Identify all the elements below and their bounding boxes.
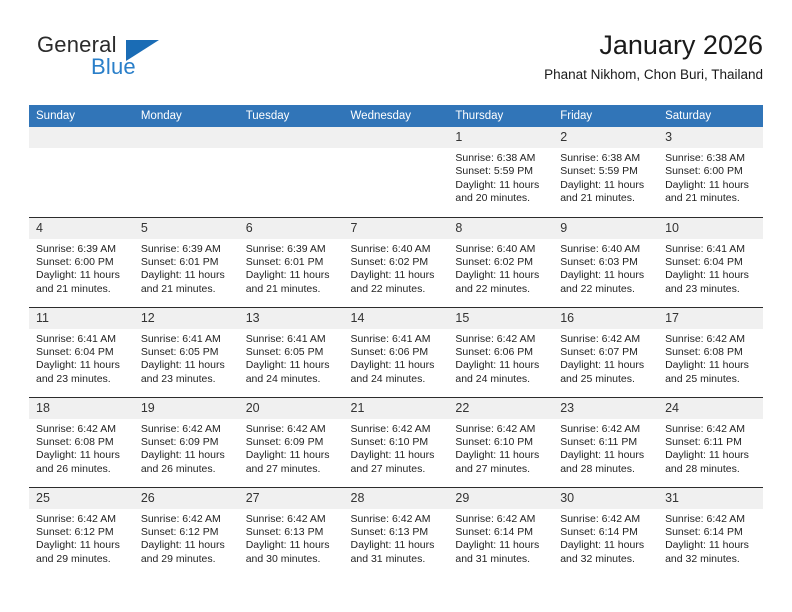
calendar-day-cell[interactable]: 18Sunrise: 6:42 AMSunset: 6:08 PMDayligh…	[29, 397, 134, 487]
day-detail-line: and 29 minutes.	[36, 553, 128, 566]
day-details: Sunrise: 6:41 AMSunset: 6:04 PMDaylight:…	[658, 239, 763, 297]
calendar-week-row: 1Sunrise: 6:38 AMSunset: 5:59 PMDaylight…	[29, 127, 763, 217]
calendar-day-cell[interactable]: 12Sunrise: 6:41 AMSunset: 6:05 PMDayligh…	[134, 307, 239, 397]
day-number: 21	[344, 398, 449, 419]
day-detail-line: Sunset: 6:11 PM	[665, 436, 757, 449]
calendar-day-cell[interactable]: 3Sunrise: 6:38 AMSunset: 6:00 PMDaylight…	[658, 127, 763, 217]
day-detail-line: Sunset: 6:02 PM	[455, 256, 547, 269]
day-detail-line: Sunset: 6:08 PM	[665, 346, 757, 359]
day-detail-line: Sunset: 5:59 PM	[560, 165, 652, 178]
day-detail-line: Daylight: 11 hours	[36, 359, 128, 372]
day-detail-line: Sunrise: 6:41 AM	[351, 333, 443, 346]
day-detail-line: Sunset: 6:14 PM	[560, 526, 652, 539]
calendar-day-cell[interactable]: 7Sunrise: 6:40 AMSunset: 6:02 PMDaylight…	[344, 217, 449, 307]
day-detail-line: Sunrise: 6:41 AM	[246, 333, 338, 346]
day-details: Sunrise: 6:42 AMSunset: 6:08 PMDaylight:…	[29, 419, 134, 477]
day-details: Sunrise: 6:42 AMSunset: 6:09 PMDaylight:…	[134, 419, 239, 477]
day-detail-line: and 28 minutes.	[560, 463, 652, 476]
day-detail-line: Sunrise: 6:41 AM	[36, 333, 128, 346]
day-detail-line: Sunset: 6:04 PM	[36, 346, 128, 359]
day-detail-line: Sunset: 6:12 PM	[141, 526, 233, 539]
day-number: 29	[448, 488, 553, 509]
day-number: 6	[239, 218, 344, 239]
day-details: Sunrise: 6:42 AMSunset: 6:14 PMDaylight:…	[553, 509, 658, 567]
calendar-day-cell[interactable]: 17Sunrise: 6:42 AMSunset: 6:08 PMDayligh…	[658, 307, 763, 397]
calendar-day-cell[interactable]: 16Sunrise: 6:42 AMSunset: 6:07 PMDayligh…	[553, 307, 658, 397]
day-number: 27	[239, 488, 344, 509]
day-details: Sunrise: 6:39 AMSunset: 6:00 PMDaylight:…	[29, 239, 134, 297]
calendar-day-cell[interactable]: 21Sunrise: 6:42 AMSunset: 6:10 PMDayligh…	[344, 397, 449, 487]
calendar-body: 1Sunrise: 6:38 AMSunset: 5:59 PMDaylight…	[29, 127, 763, 577]
day-details: Sunrise: 6:42 AMSunset: 6:14 PMDaylight:…	[658, 509, 763, 567]
day-details: Sunrise: 6:41 AMSunset: 6:05 PMDaylight:…	[239, 329, 344, 387]
day-detail-line: Sunrise: 6:42 AM	[455, 333, 547, 346]
day-detail-line: Daylight: 11 hours	[141, 449, 233, 462]
day-detail-line: Sunrise: 6:42 AM	[36, 423, 128, 436]
day-detail-line: Sunrise: 6:42 AM	[665, 513, 757, 526]
day-detail-line: Daylight: 11 hours	[246, 269, 338, 282]
day-detail-line: and 27 minutes.	[455, 463, 547, 476]
brand-name-blue: Blue	[91, 54, 136, 80]
calendar-day-cell[interactable]: 20Sunrise: 6:42 AMSunset: 6:09 PMDayligh…	[239, 397, 344, 487]
day-detail-line: and 32 minutes.	[560, 553, 652, 566]
calendar-page: General Blue January 2026 Phanat Nikhom,…	[0, 0, 792, 612]
day-detail-line: Sunrise: 6:42 AM	[665, 423, 757, 436]
day-detail-line: and 32 minutes.	[665, 553, 757, 566]
day-detail-line: Sunset: 6:10 PM	[351, 436, 443, 449]
day-details: Sunrise: 6:42 AMSunset: 6:13 PMDaylight:…	[239, 509, 344, 567]
day-details	[29, 148, 134, 152]
day-detail-line: and 23 minutes.	[36, 373, 128, 386]
day-detail-line: Sunset: 6:13 PM	[351, 526, 443, 539]
day-number: 14	[344, 308, 449, 329]
day-detail-line: Sunrise: 6:40 AM	[455, 243, 547, 256]
day-detail-line: Sunrise: 6:41 AM	[141, 333, 233, 346]
day-detail-line: and 23 minutes.	[665, 283, 757, 296]
day-detail-line: Daylight: 11 hours	[560, 449, 652, 462]
day-detail-line: Daylight: 11 hours	[351, 449, 443, 462]
weekday-header-tuesday: Tuesday	[239, 105, 344, 127]
day-detail-line: Sunset: 6:00 PM	[665, 165, 757, 178]
day-details: Sunrise: 6:42 AMSunset: 6:11 PMDaylight:…	[553, 419, 658, 477]
page-header: General Blue January 2026 Phanat Nikhom,…	[29, 28, 763, 96]
weekday-header-sunday: Sunday	[29, 105, 134, 127]
calendar-week-row: 25Sunrise: 6:42 AMSunset: 6:12 PMDayligh…	[29, 487, 763, 577]
day-detail-line: Daylight: 11 hours	[560, 269, 652, 282]
day-detail-line: Daylight: 11 hours	[36, 539, 128, 552]
day-detail-line: Sunset: 6:01 PM	[246, 256, 338, 269]
day-detail-line: and 24 minutes.	[351, 373, 443, 386]
day-detail-line: and 26 minutes.	[141, 463, 233, 476]
day-number: 20	[239, 398, 344, 419]
calendar-day-cell-empty	[29, 127, 134, 217]
day-details: Sunrise: 6:40 AMSunset: 6:02 PMDaylight:…	[448, 239, 553, 297]
title-block: January 2026 Phanat Nikhom, Chon Buri, T…	[544, 28, 763, 85]
day-detail-line: and 24 minutes.	[246, 373, 338, 386]
day-details: Sunrise: 6:39 AMSunset: 6:01 PMDaylight:…	[134, 239, 239, 297]
calendar-day-cell[interactable]: 19Sunrise: 6:42 AMSunset: 6:09 PMDayligh…	[134, 397, 239, 487]
day-number: 15	[448, 308, 553, 329]
day-number: 18	[29, 398, 134, 419]
day-detail-line: Sunset: 5:59 PM	[455, 165, 547, 178]
day-details: Sunrise: 6:42 AMSunset: 6:12 PMDaylight:…	[29, 509, 134, 567]
day-number: 2	[553, 127, 658, 148]
day-number: 31	[658, 488, 763, 509]
day-detail-line: Daylight: 11 hours	[560, 539, 652, 552]
day-detail-line: and 28 minutes.	[665, 463, 757, 476]
day-detail-line: Sunrise: 6:42 AM	[141, 423, 233, 436]
day-number: 1	[448, 127, 553, 148]
day-detail-line: and 21 minutes.	[665, 192, 757, 205]
day-details	[239, 148, 344, 152]
day-detail-line: Sunrise: 6:42 AM	[560, 333, 652, 346]
day-details: Sunrise: 6:42 AMSunset: 6:10 PMDaylight:…	[344, 419, 449, 477]
day-detail-line: Daylight: 11 hours	[141, 359, 233, 372]
day-detail-line: Sunrise: 6:42 AM	[665, 333, 757, 346]
calendar-week-row: 11Sunrise: 6:41 AMSunset: 6:04 PMDayligh…	[29, 307, 763, 397]
day-detail-line: Daylight: 11 hours	[560, 179, 652, 192]
day-detail-line: and 23 minutes.	[141, 373, 233, 386]
weekday-header-thursday: Thursday	[448, 105, 553, 127]
calendar-day-cell[interactable]: 25Sunrise: 6:42 AMSunset: 6:12 PMDayligh…	[29, 487, 134, 577]
day-detail-line: and 27 minutes.	[246, 463, 338, 476]
day-details: Sunrise: 6:39 AMSunset: 6:01 PMDaylight:…	[239, 239, 344, 297]
day-detail-line: Sunset: 6:09 PM	[246, 436, 338, 449]
day-detail-line: Sunset: 6:12 PM	[36, 526, 128, 539]
day-number: 13	[239, 308, 344, 329]
day-details: Sunrise: 6:42 AMSunset: 6:10 PMDaylight:…	[448, 419, 553, 477]
day-detail-line: Sunrise: 6:38 AM	[560, 152, 652, 165]
day-detail-line: Sunrise: 6:42 AM	[246, 423, 338, 436]
day-detail-line: Sunrise: 6:42 AM	[455, 513, 547, 526]
day-detail-line: Sunrise: 6:42 AM	[246, 513, 338, 526]
day-details: Sunrise: 6:41 AMSunset: 6:06 PMDaylight:…	[344, 329, 449, 387]
day-detail-line: Daylight: 11 hours	[665, 449, 757, 462]
weekday-header-monday: Monday	[134, 105, 239, 127]
day-details: Sunrise: 6:42 AMSunset: 6:14 PMDaylight:…	[448, 509, 553, 567]
calendar-day-cell[interactable]: 6Sunrise: 6:39 AMSunset: 6:01 PMDaylight…	[239, 217, 344, 307]
day-detail-line: Sunrise: 6:40 AM	[560, 243, 652, 256]
day-number: 3	[658, 127, 763, 148]
day-detail-line: and 21 minutes.	[246, 283, 338, 296]
day-detail-line: and 22 minutes.	[351, 283, 443, 296]
day-number: 17	[658, 308, 763, 329]
calendar-day-cell[interactable]: 1Sunrise: 6:38 AMSunset: 5:59 PMDaylight…	[448, 127, 553, 217]
day-number: 9	[553, 218, 658, 239]
day-detail-line: Sunrise: 6:38 AM	[455, 152, 547, 165]
day-number: 11	[29, 308, 134, 329]
day-details: Sunrise: 6:38 AMSunset: 5:59 PMDaylight:…	[553, 148, 658, 206]
day-detail-line: Sunset: 6:06 PM	[455, 346, 547, 359]
day-number: 8	[448, 218, 553, 239]
day-detail-line: Daylight: 11 hours	[246, 539, 338, 552]
day-number: 5	[134, 218, 239, 239]
day-number: 12	[134, 308, 239, 329]
day-detail-line: Sunrise: 6:38 AM	[665, 152, 757, 165]
day-number	[134, 127, 239, 148]
calendar-day-cell-empty	[134, 127, 239, 217]
day-detail-line: Sunset: 6:10 PM	[455, 436, 547, 449]
calendar-day-cell[interactable]: 2Sunrise: 6:38 AMSunset: 5:59 PMDaylight…	[553, 127, 658, 217]
day-detail-line: Sunrise: 6:42 AM	[560, 423, 652, 436]
day-details: Sunrise: 6:40 AMSunset: 6:03 PMDaylight:…	[553, 239, 658, 297]
day-detail-line: and 30 minutes.	[246, 553, 338, 566]
day-detail-line: and 26 minutes.	[36, 463, 128, 476]
day-details: Sunrise: 6:40 AMSunset: 6:02 PMDaylight:…	[344, 239, 449, 297]
day-detail-line: Daylight: 11 hours	[36, 449, 128, 462]
day-number	[239, 127, 344, 148]
weekday-header-wednesday: Wednesday	[344, 105, 449, 127]
day-details: Sunrise: 6:41 AMSunset: 6:04 PMDaylight:…	[29, 329, 134, 387]
day-detail-line: Sunset: 6:02 PM	[351, 256, 443, 269]
calendar-day-cell[interactable]: 30Sunrise: 6:42 AMSunset: 6:14 PMDayligh…	[553, 487, 658, 577]
day-detail-line: Daylight: 11 hours	[351, 269, 443, 282]
calendar-day-cell-empty	[344, 127, 449, 217]
day-details: Sunrise: 6:41 AMSunset: 6:05 PMDaylight:…	[134, 329, 239, 387]
day-details: Sunrise: 6:38 AMSunset: 5:59 PMDaylight:…	[448, 148, 553, 206]
day-number: 26	[134, 488, 239, 509]
day-detail-line: Sunrise: 6:42 AM	[455, 423, 547, 436]
day-detail-line: Sunrise: 6:42 AM	[141, 513, 233, 526]
day-detail-line: Daylight: 11 hours	[455, 269, 547, 282]
calendar-week-row: 18Sunrise: 6:42 AMSunset: 6:08 PMDayligh…	[29, 397, 763, 487]
day-detail-line: Daylight: 11 hours	[455, 539, 547, 552]
day-detail-line: and 22 minutes.	[560, 283, 652, 296]
day-detail-line: and 31 minutes.	[351, 553, 443, 566]
day-detail-line: Sunset: 6:07 PM	[560, 346, 652, 359]
calendar-day-cell[interactable]: 23Sunrise: 6:42 AMSunset: 6:11 PMDayligh…	[553, 397, 658, 487]
day-detail-line: Daylight: 11 hours	[455, 359, 547, 372]
day-detail-line: Sunset: 6:06 PM	[351, 346, 443, 359]
day-detail-line: Daylight: 11 hours	[665, 539, 757, 552]
day-detail-line: Sunset: 6:14 PM	[455, 526, 547, 539]
day-number: 22	[448, 398, 553, 419]
day-detail-line: Sunrise: 6:41 AM	[665, 243, 757, 256]
calendar-day-cell[interactable]: 27Sunrise: 6:42 AMSunset: 6:13 PMDayligh…	[239, 487, 344, 577]
day-details: Sunrise: 6:42 AMSunset: 6:08 PMDaylight:…	[658, 329, 763, 387]
day-number: 19	[134, 398, 239, 419]
day-detail-line: Sunset: 6:05 PM	[141, 346, 233, 359]
brand-logo[interactable]: General Blue	[29, 28, 249, 84]
day-detail-line: Sunset: 6:01 PM	[141, 256, 233, 269]
day-detail-line: Daylight: 11 hours	[246, 449, 338, 462]
day-detail-line: Sunset: 6:14 PM	[665, 526, 757, 539]
day-number: 10	[658, 218, 763, 239]
day-number: 25	[29, 488, 134, 509]
day-detail-line: Sunrise: 6:39 AM	[36, 243, 128, 256]
day-detail-line: and 25 minutes.	[560, 373, 652, 386]
day-detail-line: Sunset: 6:13 PM	[246, 526, 338, 539]
day-detail-line: Daylight: 11 hours	[455, 449, 547, 462]
day-detail-line: Daylight: 11 hours	[665, 269, 757, 282]
day-detail-line: and 22 minutes.	[455, 283, 547, 296]
day-detail-line: Sunrise: 6:42 AM	[351, 513, 443, 526]
weekday-header-row: Sunday Monday Tuesday Wednesday Thursday…	[29, 105, 763, 127]
day-details: Sunrise: 6:42 AMSunset: 6:13 PMDaylight:…	[344, 509, 449, 567]
calendar-day-cell-empty	[239, 127, 344, 217]
day-detail-line: Daylight: 11 hours	[665, 359, 757, 372]
day-detail-line: and 31 minutes.	[455, 553, 547, 566]
day-detail-line: Daylight: 11 hours	[351, 359, 443, 372]
calendar-day-cell[interactable]: 26Sunrise: 6:42 AMSunset: 6:12 PMDayligh…	[134, 487, 239, 577]
day-detail-line: Sunset: 6:08 PM	[36, 436, 128, 449]
day-detail-line: Sunrise: 6:39 AM	[246, 243, 338, 256]
day-detail-line: Daylight: 11 hours	[36, 269, 128, 282]
calendar-day-cell[interactable]: 4Sunrise: 6:39 AMSunset: 6:00 PMDaylight…	[29, 217, 134, 307]
day-detail-line: and 21 minutes.	[141, 283, 233, 296]
day-detail-line: Daylight: 11 hours	[351, 539, 443, 552]
day-detail-line: and 25 minutes.	[665, 373, 757, 386]
day-number: 4	[29, 218, 134, 239]
day-detail-line: Daylight: 11 hours	[246, 359, 338, 372]
day-detail-line: Sunrise: 6:42 AM	[351, 423, 443, 436]
day-number: 30	[553, 488, 658, 509]
calendar-day-cell[interactable]: 9Sunrise: 6:40 AMSunset: 6:03 PMDaylight…	[553, 217, 658, 307]
day-detail-line: Sunrise: 6:42 AM	[560, 513, 652, 526]
day-number: 24	[658, 398, 763, 419]
page-subtitle: Phanat Nikhom, Chon Buri, Thailand	[544, 65, 763, 85]
day-number: 16	[553, 308, 658, 329]
calendar-day-cell[interactable]: 5Sunrise: 6:39 AMSunset: 6:01 PMDaylight…	[134, 217, 239, 307]
page-title: January 2026	[544, 28, 763, 62]
day-detail-line: Sunrise: 6:42 AM	[36, 513, 128, 526]
day-details: Sunrise: 6:42 AMSunset: 6:09 PMDaylight:…	[239, 419, 344, 477]
day-detail-line: Sunset: 6:05 PM	[246, 346, 338, 359]
day-details: Sunrise: 6:42 AMSunset: 6:12 PMDaylight:…	[134, 509, 239, 567]
calendar-week-row: 4Sunrise: 6:39 AMSunset: 6:00 PMDaylight…	[29, 217, 763, 307]
calendar-day-cell[interactable]: 11Sunrise: 6:41 AMSunset: 6:04 PMDayligh…	[29, 307, 134, 397]
calendar-day-cell[interactable]: 13Sunrise: 6:41 AMSunset: 6:05 PMDayligh…	[239, 307, 344, 397]
day-detail-line: and 29 minutes.	[141, 553, 233, 566]
calendar-day-cell[interactable]: 29Sunrise: 6:42 AMSunset: 6:14 PMDayligh…	[448, 487, 553, 577]
day-detail-line: Sunset: 6:09 PM	[141, 436, 233, 449]
day-number: 7	[344, 218, 449, 239]
calendar-grid: Sunday Monday Tuesday Wednesday Thursday…	[29, 105, 763, 577]
day-detail-line: Daylight: 11 hours	[455, 179, 547, 192]
day-detail-line: Sunrise: 6:40 AM	[351, 243, 443, 256]
calendar-day-cell[interactable]: 31Sunrise: 6:42 AMSunset: 6:14 PMDayligh…	[658, 487, 763, 577]
calendar-day-cell[interactable]: 14Sunrise: 6:41 AMSunset: 6:06 PMDayligh…	[344, 307, 449, 397]
day-number: 23	[553, 398, 658, 419]
calendar-day-cell[interactable]: 15Sunrise: 6:42 AMSunset: 6:06 PMDayligh…	[448, 307, 553, 397]
calendar-day-cell[interactable]: 28Sunrise: 6:42 AMSunset: 6:13 PMDayligh…	[344, 487, 449, 577]
calendar-day-cell[interactable]: 24Sunrise: 6:42 AMSunset: 6:11 PMDayligh…	[658, 397, 763, 487]
day-details: Sunrise: 6:38 AMSunset: 6:00 PMDaylight:…	[658, 148, 763, 206]
day-details: Sunrise: 6:42 AMSunset: 6:07 PMDaylight:…	[553, 329, 658, 387]
day-details: Sunrise: 6:42 AMSunset: 6:06 PMDaylight:…	[448, 329, 553, 387]
day-number: 28	[344, 488, 449, 509]
day-detail-line: and 21 minutes.	[560, 192, 652, 205]
day-detail-line: and 20 minutes.	[455, 192, 547, 205]
calendar-day-cell[interactable]: 8Sunrise: 6:40 AMSunset: 6:02 PMDaylight…	[448, 217, 553, 307]
day-detail-line: and 21 minutes.	[36, 283, 128, 296]
day-details: Sunrise: 6:42 AMSunset: 6:11 PMDaylight:…	[658, 419, 763, 477]
weekday-header-saturday: Saturday	[658, 105, 763, 127]
day-detail-line: Daylight: 11 hours	[141, 539, 233, 552]
day-detail-line: Sunset: 6:03 PM	[560, 256, 652, 269]
day-detail-line: Daylight: 11 hours	[560, 359, 652, 372]
day-detail-line: Daylight: 11 hours	[665, 179, 757, 192]
day-details	[134, 148, 239, 152]
day-detail-line: Sunrise: 6:39 AM	[141, 243, 233, 256]
calendar-day-cell[interactable]: 22Sunrise: 6:42 AMSunset: 6:10 PMDayligh…	[448, 397, 553, 487]
weekday-header-friday: Friday	[553, 105, 658, 127]
day-details	[344, 148, 449, 152]
day-detail-line: and 24 minutes.	[455, 373, 547, 386]
day-number	[29, 127, 134, 148]
day-detail-line: Sunset: 6:00 PM	[36, 256, 128, 269]
day-detail-line: and 27 minutes.	[351, 463, 443, 476]
day-detail-line: Daylight: 11 hours	[141, 269, 233, 282]
calendar-day-cell[interactable]: 10Sunrise: 6:41 AMSunset: 6:04 PMDayligh…	[658, 217, 763, 307]
day-detail-line: Sunset: 6:11 PM	[560, 436, 652, 449]
day-number	[344, 127, 449, 148]
day-detail-line: Sunset: 6:04 PM	[665, 256, 757, 269]
